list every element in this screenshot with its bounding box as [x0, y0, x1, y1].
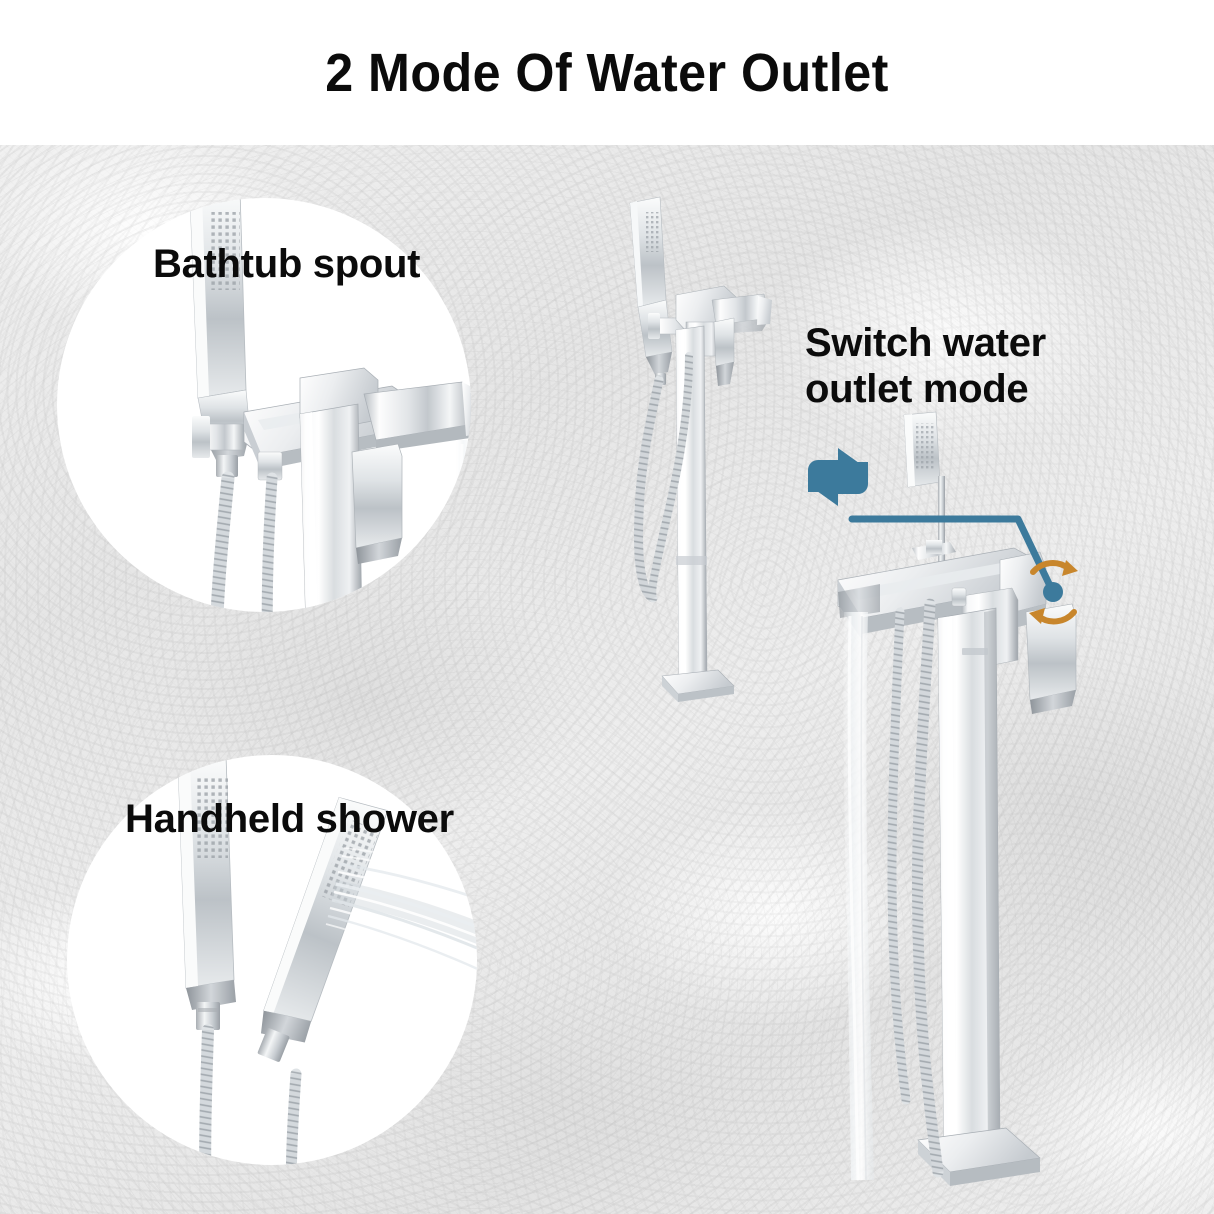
annotation-label: Switch water outlet mode — [805, 320, 1046, 413]
callout-label-handheld-shower: Handheld shower — [125, 798, 454, 841]
annotation-label-line-1: Switch water — [805, 320, 1046, 366]
page-title: 2 Mode Of Water Outlet — [325, 46, 889, 100]
header-band: 2 Mode Of Water Outlet — [0, 0, 1214, 145]
photo-area — [0, 145, 1214, 1214]
callout-label-bathtub-spout: Bathtub spout — [153, 243, 420, 286]
annotation-label-line-2: outlet mode — [805, 366, 1046, 412]
texture-grain-fine — [0, 145, 1214, 1214]
product-infographic: 2 Mode Of Water Outlet — [0, 0, 1214, 1214]
